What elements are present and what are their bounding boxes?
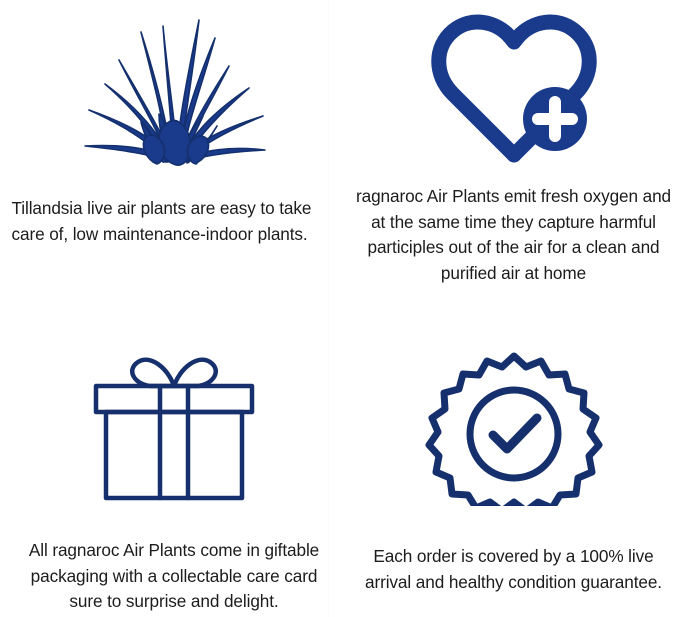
gift-box-icon	[84, 348, 264, 506]
feature-text-fresh-oxygen: ragnaroc Air Plants emit fresh oxygen an…	[353, 184, 674, 286]
air-plant-icon	[79, 10, 269, 170]
feature-grid: Tillandsia live air plants are easy to t…	[0, 0, 679, 617]
feature-card-live-arrival-guarantee: Each order is covered by a 100% live arr…	[348, 308, 679, 617]
feature-card-giftable-packaging: All ragnaroc Air Plants come in giftable…	[0, 308, 348, 617]
heart-plus-icon	[426, 14, 602, 166]
feature-text-live-arrival-guarantee: Each order is covered by a 100% live arr…	[353, 544, 674, 595]
feature-text-giftable-packaging: All ragnaroc Air Plants come in giftable…	[14, 538, 334, 615]
feature-card-easy-care: Tillandsia live air plants are easy to t…	[0, 0, 348, 308]
guarantee-badge-icon	[425, 348, 603, 506]
feature-text-easy-care: Tillandsia live air plants are easy to t…	[7, 196, 342, 247]
feature-card-fresh-oxygen: ragnaroc Air Plants emit fresh oxygen an…	[348, 0, 679, 308]
